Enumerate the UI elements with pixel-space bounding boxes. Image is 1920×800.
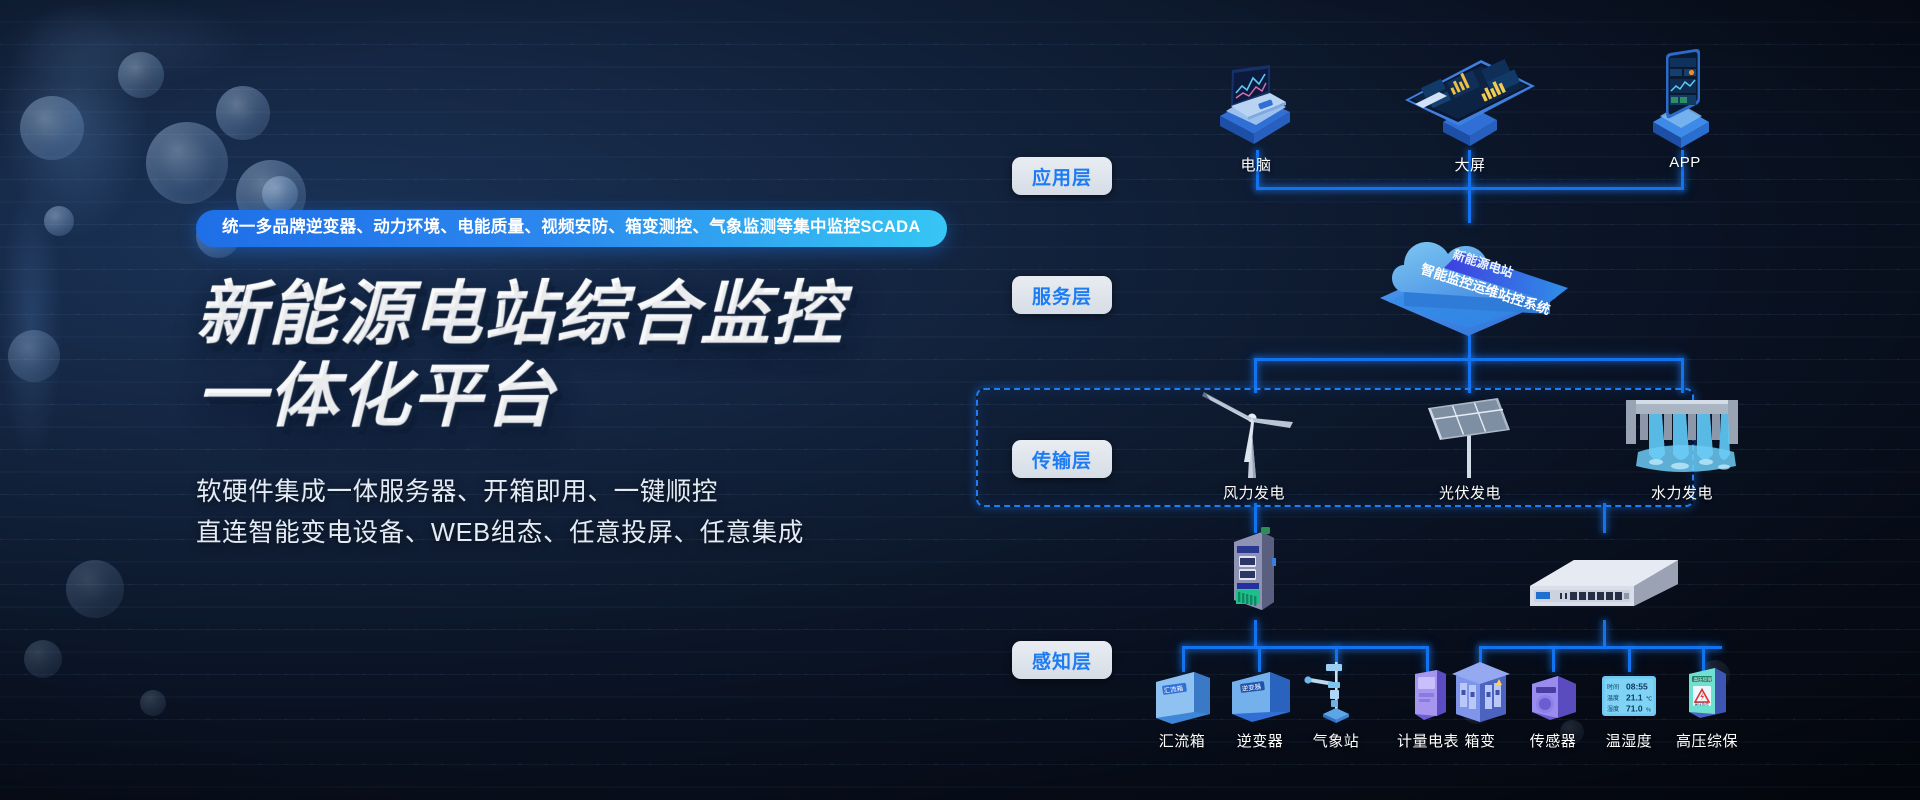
layer-tag-label: 应用层 (1032, 163, 1092, 190)
app-node-pc-label: 电脑 (1186, 154, 1326, 175)
transmission-node-wind-label: 风力发电 (1190, 482, 1318, 503)
perception-node-weather-label: 气象站 (1290, 730, 1382, 751)
layer-tag-perception: 感知层 (1012, 641, 1112, 679)
big-screen-icon (1395, 48, 1545, 150)
transmission-layer-boundary (976, 388, 1694, 507)
hv-protection-warning: 高压危险 (1695, 702, 1710, 707)
layer-tag-service: 服务层 (1012, 276, 1112, 314)
wire-perception-bus-right (1479, 646, 1722, 649)
wire-perception-bus-left (1182, 646, 1428, 649)
hydro-dam-icon (1616, 392, 1748, 478)
app-node-bigscreen[interactable]: 大屏 (1395, 48, 1545, 175)
smartphone-icon (1620, 48, 1750, 150)
wire-server-down (1603, 620, 1606, 648)
headline-block: 统一多品牌逆变器、动力环境、电能质量、视频安防、箱变测控、气象监测等集中监控SC… (196, 210, 956, 554)
weather-station-icon (1290, 656, 1382, 726)
perception-node-hv-protection[interactable]: 高压综保 高压危险 高压综保 (1660, 664, 1754, 751)
app-node-bigscreen-label: 大屏 (1395, 154, 1545, 175)
title-line-2: 一体化平台 (196, 355, 956, 438)
hv-protection-title: 高压综保 (1694, 676, 1713, 683)
rack-server-icon (1520, 540, 1688, 618)
wire-down-to-server (1603, 503, 1606, 533)
page-title: 新能源电站综合监控 一体化平台 (196, 273, 956, 438)
edge-device-gateway[interactable] (1216, 524, 1292, 622)
subtitle-block: 软硬件集成一体服务器、开箱即用、一键顺控 直连智能变电设备、WEB组态、任意投屏… (196, 472, 956, 555)
temp-humidity-humidity-unit: % (1646, 708, 1651, 714)
subtitle-line-2: 直连智能变电设备、WEB组态、任意投屏、任意集成 (196, 513, 956, 554)
perception-node-hv-label: 高压综保 (1660, 730, 1754, 751)
feature-pill: 统一多品牌逆变器、动力环境、电能质量、视频安防、箱变测控、气象监测等集中监控SC… (196, 210, 947, 247)
solar-panel-icon (1406, 392, 1534, 478)
layer-tag-label: 服务层 (1032, 282, 1092, 309)
wind-turbine-icon (1190, 392, 1318, 478)
temp-humidity-temp-value: 21.1 (1626, 693, 1643, 703)
layer-tag-application: 应用层 (1012, 157, 1112, 195)
wire-sensor-drop (1552, 646, 1555, 672)
temp-humidity-humidity-value: 71.0 (1626, 704, 1643, 714)
perception-node-weather[interactable]: 气象站 (1290, 656, 1382, 751)
app-node-pc[interactable]: 电脑 (1186, 62, 1326, 175)
transmission-node-hydro-label: 水力发电 (1616, 482, 1748, 503)
transmission-node-hydro[interactable]: 水力发电 (1616, 392, 1748, 503)
din-rail-gateway-icon (1216, 524, 1292, 622)
hero-banner: 统一多品牌逆变器、动力环境、电能质量、视频安防、箱变测控、气象监测等集中监控SC… (0, 0, 1920, 800)
app-node-app[interactable]: APP (1620, 48, 1750, 171)
layer-tag-label: 感知层 (1032, 647, 1092, 674)
subtitle-line-1: 软硬件集成一体服务器、开箱即用、一键顺控 (196, 472, 956, 513)
architecture-diagram: 应用层 服务层 传输层 感知层 (990, 0, 1920, 800)
transmission-node-wind[interactable]: 风力发电 (1190, 392, 1318, 503)
temp-humidity-time-value: 08:55 (1626, 682, 1648, 692)
title-line-1: 新能源电站综合监控 (196, 273, 956, 356)
wire-gateway-down (1254, 620, 1257, 648)
service-node-cloud[interactable]: 新能源电站 智能监控运维站控系统 (1340, 218, 1596, 336)
edge-device-server[interactable] (1520, 540, 1688, 618)
cloud-platform-icon: 新能源电站 智能监控运维站控系统 (1340, 218, 1596, 336)
transmission-node-solar-label: 光伏发电 (1406, 482, 1534, 503)
transmission-node-solar[interactable]: 光伏发电 (1406, 392, 1534, 503)
temp-humidity-temp-label: 温度 (1607, 694, 1619, 702)
temp-humidity-humidity-label: 湿度 (1607, 705, 1619, 713)
laptop-icon (1186, 62, 1326, 150)
temp-humidity-time-label: 时间 (1607, 683, 1619, 691)
temp-humidity-temp-unit: ℃ (1646, 697, 1653, 703)
hv-protection-icon: 高压综保 高压危险 (1660, 664, 1754, 726)
app-node-app-label: APP (1620, 154, 1750, 171)
